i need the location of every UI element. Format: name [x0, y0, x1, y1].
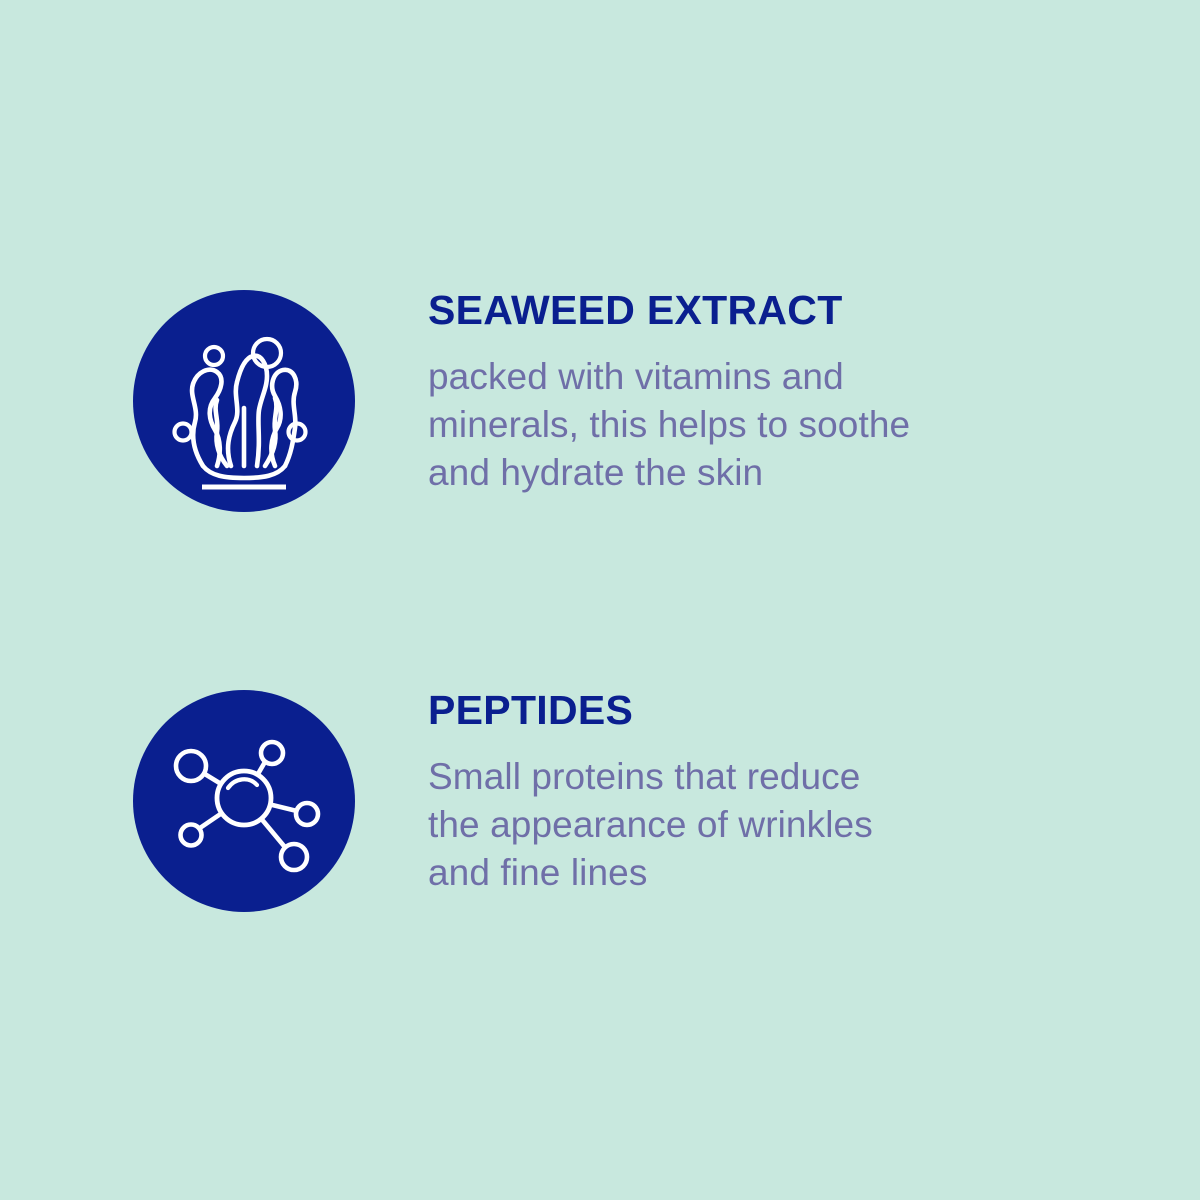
description-line: minerals, this helps to soothe — [428, 401, 1028, 449]
feature-title-peptides: PEPTIDES — [428, 690, 1028, 731]
feature-row-peptides: PEPTIDES Small proteins that reduce the … — [0, 690, 1200, 912]
description-line: packed with vitamins and — [428, 353, 1028, 401]
molecule-node-icon — [176, 751, 206, 781]
description-line: and fine lines — [428, 849, 1028, 897]
feature-row-seaweed: SEAWEED EXTRACT packed with vitamins and… — [0, 290, 1200, 512]
molecule-node-icon — [296, 803, 318, 825]
feature-description-peptides: Small proteins that reduce the appearanc… — [428, 753, 1028, 897]
description-line: Small proteins that reduce — [428, 753, 1028, 801]
bubble-icon — [253, 339, 281, 367]
feature-description-seaweed: packed with vitamins and minerals, this … — [428, 353, 1028, 497]
bubble-icon — [175, 424, 192, 441]
feature-title-seaweed: SEAWEED EXTRACT — [428, 290, 1028, 331]
peptides-text-block: PEPTIDES Small proteins that reduce the … — [428, 690, 1028, 897]
molecule-node-icon — [261, 742, 283, 764]
molecule-icon — [133, 690, 355, 912]
molecule-node-icon — [181, 825, 202, 846]
ingredient-benefits-panel: SEAWEED EXTRACT packed with vitamins and… — [0, 0, 1200, 1200]
bubble-icon — [205, 347, 223, 365]
description-line: and hydrate the skin — [428, 449, 1028, 497]
seaweed-icon — [133, 290, 355, 512]
seaweed-text-block: SEAWEED EXTRACT packed with vitamins and… — [428, 290, 1028, 497]
description-line: the appearance of wrinkles — [428, 801, 1028, 849]
molecule-node-icon — [281, 844, 307, 870]
molecule-icon-badge — [133, 690, 355, 912]
seaweed-icon-badge — [133, 290, 355, 512]
